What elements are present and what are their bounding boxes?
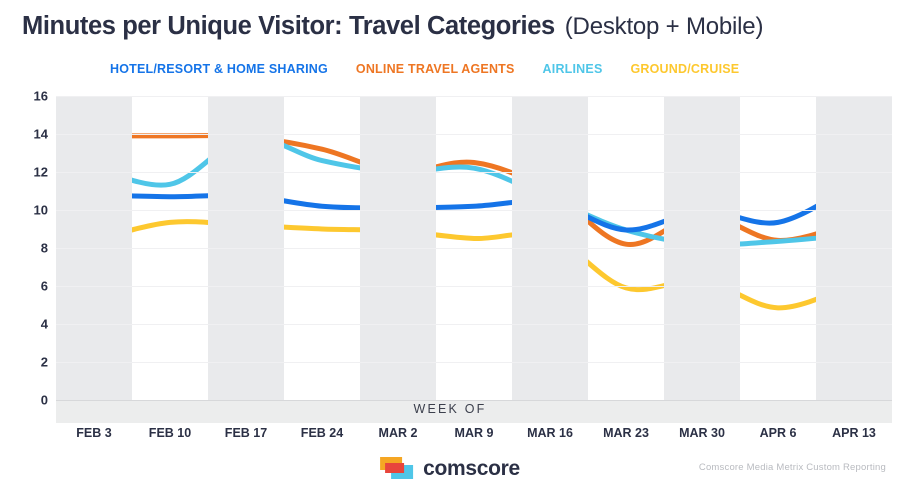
y-axis-tick-8: 8 — [4, 241, 48, 256]
title-subtitle-text: (Desktop + Mobile) — [565, 13, 763, 41]
chart-area: 1614121086420 WEEK OF FEB 3FEB 10FEB 17F… — [0, 96, 900, 406]
y-axis-tick-10: 10 — [4, 203, 48, 218]
x-axis-tick-2: FEB 17 — [225, 426, 267, 440]
footer: comscore Comscore Media Metrix Custom Re… — [0, 450, 900, 497]
y-axis-tick-14: 14 — [4, 127, 48, 142]
brand-name: comscore — [423, 457, 520, 481]
chart-legend: HOTEL/RESORT & HOME SHARINGONLINE TRAVEL… — [110, 62, 739, 76]
gridline — [56, 210, 892, 211]
x-axis-tick-7: MAR 23 — [603, 426, 649, 440]
x-axis-tick-9: APR 6 — [760, 426, 797, 440]
legend-item-3[interactable]: GROUND/CRUISE — [630, 62, 739, 76]
comscore-brand: comscore — [380, 456, 520, 482]
x-axis-tick-10: APR 13 — [832, 426, 876, 440]
x-axis-tick-0: FEB 3 — [76, 426, 111, 440]
gridline — [56, 362, 892, 363]
y-axis-tick-12: 12 — [4, 165, 48, 180]
y-axis-tick-2: 2 — [4, 355, 48, 370]
legend-item-2[interactable]: AIRLINES — [543, 62, 603, 76]
legend-item-0[interactable]: HOTEL/RESORT & HOME SHARING — [110, 62, 328, 76]
x-axis-tick-8: MAR 30 — [679, 426, 725, 440]
x-axis-tick-4: MAR 2 — [379, 426, 418, 440]
x-axis-caption: WEEK OF — [0, 402, 900, 416]
x-axis-tick-5: MAR 9 — [455, 426, 494, 440]
page-title: Minutes per Unique Visitor: Travel Categ… — [22, 12, 890, 41]
title-main-text: Minutes per Unique Visitor: Travel Categ… — [22, 12, 555, 41]
gridline — [56, 96, 892, 97]
y-axis: 1614121086420 — [0, 96, 48, 400]
gridline — [56, 324, 892, 325]
x-axis-tick-1: FEB 10 — [149, 426, 191, 440]
y-axis-tick-4: 4 — [4, 317, 48, 332]
source-credit: Comscore Media Metrix Custom Reporting — [699, 462, 886, 473]
gridline — [56, 286, 892, 287]
comscore-logo-icon — [380, 456, 414, 482]
x-axis: FEB 3FEB 10FEB 17FEB 24MAR 2MAR 9MAR 16M… — [56, 426, 892, 450]
chart-page: Minutes per Unique Visitor: Travel Categ… — [0, 0, 900, 497]
gridline — [56, 172, 892, 173]
y-axis-tick-6: 6 — [4, 279, 48, 294]
x-axis-tick-6: MAR 16 — [527, 426, 573, 440]
plot-region — [56, 96, 892, 400]
logo-red-shape — [385, 463, 404, 473]
x-axis-tick-3: FEB 24 — [301, 426, 343, 440]
y-axis-tick-16: 16 — [4, 89, 48, 104]
gridline — [56, 248, 892, 249]
legend-item-1[interactable]: ONLINE TRAVEL AGENTS — [356, 62, 515, 76]
gridline — [56, 134, 892, 135]
